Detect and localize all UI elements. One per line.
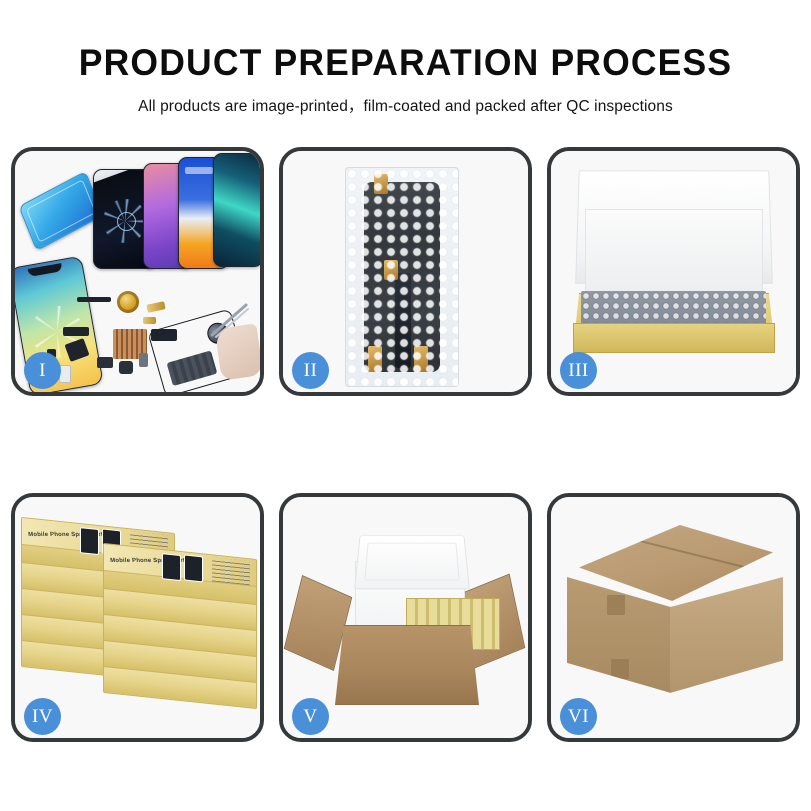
sealed-shipping-carton xyxy=(567,525,783,705)
step-badge-4: IV xyxy=(24,698,61,735)
step-badge-2: II xyxy=(292,352,329,389)
flex-cable-part-4 xyxy=(151,329,177,341)
page-header: PRODUCT PREPARATION PROCESS All products… xyxy=(0,0,811,116)
connector-part-1 xyxy=(97,357,113,368)
adhesive-film xyxy=(18,171,103,251)
speaker-part xyxy=(119,361,133,374)
yellow-box-front xyxy=(573,323,775,353)
step-badge-1: I xyxy=(24,352,61,389)
page-subtitle: All products are image-printed，film-coat… xyxy=(0,94,811,116)
wrapped-flex-cable xyxy=(395,273,411,368)
hand-holding-tool xyxy=(215,323,260,380)
gold-tab-2 xyxy=(384,260,398,280)
open-cardboard-carton xyxy=(313,557,497,703)
process-step-grid: I II III xyxy=(11,147,800,742)
carton-right-face xyxy=(670,577,783,693)
carton-tape-1 xyxy=(607,595,625,615)
gold-connector-part-2 xyxy=(143,317,156,324)
box-1-screen-image-a xyxy=(80,527,99,555)
process-step-1[interactable]: I xyxy=(11,147,264,396)
battery-part xyxy=(167,350,218,386)
process-step-6[interactable]: VI xyxy=(547,493,800,742)
process-step-4[interactable]: Mobile Phone Spare Parts Mobile Phone Sp… xyxy=(11,493,264,742)
crack-pattern-icon xyxy=(103,199,147,243)
bubble-wrapped-contents xyxy=(581,291,766,325)
gold-tab-3 xyxy=(368,346,382,372)
process-step-3[interactable]: III xyxy=(547,147,800,396)
box-6-screen-image-a xyxy=(162,553,181,581)
step-badge-6: VI xyxy=(560,698,597,735)
white-foam-lid xyxy=(354,535,470,589)
flex-cable-part-1 xyxy=(77,297,111,302)
button-part xyxy=(139,353,148,367)
gold-connector-part-1 xyxy=(146,301,165,313)
step-badge-3: III xyxy=(560,352,597,389)
page-title: PRODUCT PREPARATION PROCESS xyxy=(16,44,795,83)
carton-tape-2 xyxy=(611,659,629,679)
white-foam-sheet xyxy=(585,209,763,295)
process-step-2[interactable]: II xyxy=(279,147,532,396)
carton-front-face xyxy=(335,625,479,705)
flex-cable-part-2 xyxy=(63,327,89,336)
step-badge-5: V xyxy=(292,698,329,735)
copper-coil-part xyxy=(117,291,139,313)
gold-tab-1 xyxy=(374,174,388,194)
gold-tab-4 xyxy=(414,346,428,372)
teal-phone-display xyxy=(213,153,260,267)
bubble-wrap-bag xyxy=(345,167,459,387)
carton-top-seam xyxy=(609,532,774,575)
process-step-5[interactable]: V xyxy=(279,493,532,742)
box-6-spec-lines xyxy=(212,557,250,585)
box-6-screen-image-b xyxy=(184,554,203,582)
